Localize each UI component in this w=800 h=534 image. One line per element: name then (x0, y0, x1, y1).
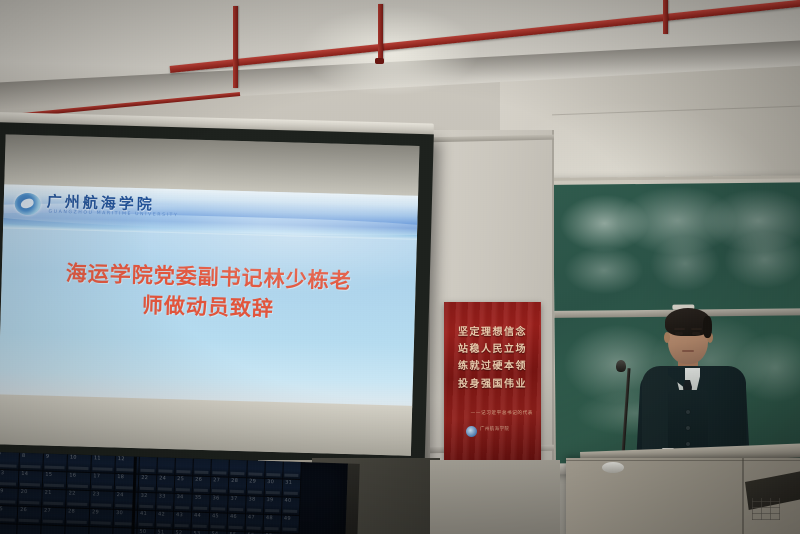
locker-cell[interactable]: 14 (19, 471, 44, 490)
locker-number: 30 (116, 511, 123, 516)
speaker-eye-left (675, 332, 683, 335)
locker-cell[interactable]: 25 (0, 506, 18, 525)
locker-number: 17 (93, 474, 100, 479)
locker-number: 25 (177, 477, 184, 482)
microphone-head-icon (616, 360, 626, 372)
locker-number: 7 (0, 453, 1, 458)
locker-number: 34 (177, 495, 184, 500)
locker-cell[interactable] (247, 460, 266, 479)
numbered-lockers[interactable]: 7891011121314151617182224252627282930311… (0, 452, 348, 534)
locker-number: 30 (267, 480, 274, 485)
locker-number: 11 (94, 456, 101, 461)
microphone-base (602, 462, 624, 473)
locker-number: 40 (284, 499, 291, 504)
locker-cell[interactable]: 29 (247, 478, 266, 497)
locker-number: 33 (159, 494, 166, 499)
locker-number: 24 (117, 493, 124, 498)
locker-number: 26 (20, 508, 27, 513)
locker-cell[interactable]: 11 (91, 455, 116, 474)
sprinkler-head-icon (375, 58, 384, 64)
locker-cell[interactable]: 20 (18, 489, 43, 508)
locker-cell[interactable]: 26 (193, 477, 212, 496)
locker-number: 22 (141, 476, 148, 481)
locker-number: 44 (194, 514, 201, 519)
speaker-ear-left (664, 332, 670, 343)
sprinkler-drop-pipe (663, 0, 668, 34)
locker-number: 29 (92, 510, 99, 515)
locker-number: 42 (158, 512, 165, 517)
locker-cell[interactable]: 50 (137, 529, 156, 534)
locker-number: 22 (69, 491, 76, 496)
locker-cell[interactable]: 49 (281, 516, 300, 534)
locker-number: 41 (140, 512, 147, 517)
locker-cell[interactable]: 16 (67, 472, 92, 491)
locker-cell[interactable] (139, 457, 158, 476)
sprinkler-drop-pipe (378, 4, 383, 62)
locker-number: 23 (93, 492, 100, 497)
locker-cell[interactable]: 28 (229, 478, 248, 497)
locker-cell[interactable]: 37 (228, 496, 247, 515)
locker-cell[interactable]: 33 (156, 493, 175, 512)
locker-cell[interactable] (283, 462, 302, 481)
presentation-slide[interactable]: 广州航海学院 GUANGZHOU MARITIME UNIVERSITY 海运学… (0, 184, 418, 407)
locker-cell[interactable]: 25 (175, 476, 194, 495)
locker-number: 25 (0, 507, 3, 512)
locker-number: 36 (212, 496, 219, 501)
locker-cell[interactable]: 24 (157, 475, 176, 494)
locker-cell[interactable]: 32 (138, 493, 157, 512)
locker-cell[interactable]: 31 (283, 480, 302, 499)
locker-cell[interactable]: 41 (138, 511, 157, 530)
locker-number: 27 (44, 509, 51, 514)
locker-number: 38 (248, 497, 255, 502)
speaker-hair (665, 308, 711, 336)
locker-cell[interactable]: 46 (227, 514, 246, 533)
banner-line-2: 站稳人民立场 (444, 341, 541, 358)
locker-number: 13 (0, 471, 4, 476)
locker-cell[interactable]: 35 (192, 495, 211, 514)
locker-cell[interactable]: 52 (173, 530, 192, 534)
banner-slogan-block: 坚定理想信念 站稳人民立场 练就过硬本领 投身强国伟业 (444, 324, 541, 393)
locker-number: 28 (231, 479, 238, 484)
locker-cell[interactable]: 42 (156, 511, 175, 530)
locker-number: 45 (212, 514, 219, 519)
locker-cell[interactable]: 48 (263, 515, 282, 534)
locker-number: 31 (285, 481, 292, 486)
locker-cell[interactable]: 23 (90, 491, 115, 510)
locker-cell[interactable]: 17 (91, 473, 116, 492)
locker-number: 16 (69, 473, 76, 478)
locker-number: 49 (284, 517, 291, 522)
locker-number: 50 (139, 530, 146, 534)
locker-cell[interactable]: 8 (19, 453, 44, 472)
locker-number: 24 (159, 476, 166, 481)
lecture-hall-photo: 坚定理想信念 站稳人民立场 练就过硬本领 投身强国伟业 ——记习近平总书记的代表… (0, 0, 800, 534)
locker-number: 8 (22, 454, 26, 459)
banner-line-1: 坚定理想信念 (444, 324, 541, 341)
locker-cell[interactable] (193, 459, 212, 478)
locker-cell[interactable]: 7 (0, 452, 20, 471)
locker-number: 29 (249, 479, 256, 484)
locker-cell[interactable] (65, 526, 90, 534)
banner-subtitle: ——记习近平总书记的代表 (444, 410, 541, 416)
locker-cell[interactable] (157, 457, 176, 476)
locker-cell[interactable] (229, 460, 248, 479)
locker-cell[interactable]: 53 (191, 531, 210, 534)
locker-cell[interactable]: 45 (209, 513, 228, 532)
banner-line-3: 练就过硬本领 (444, 358, 541, 375)
locker-number: 20 (21, 490, 28, 495)
speaker-eye-right (692, 332, 700, 335)
locker-cell[interactable] (89, 527, 114, 534)
locker-cell[interactable]: 10 (67, 454, 92, 473)
banner-logo-text: 广州航海学院 (480, 427, 509, 434)
screen-blank-area-bottom (0, 394, 412, 456)
locker-cell[interactable] (0, 524, 18, 534)
sprinkler-drop-pipe (233, 6, 238, 88)
locker-number: 14 (21, 472, 28, 477)
locker-cell[interactable]: 38 (246, 496, 265, 515)
projection-screen-surface[interactable]: 广州航海学院 GUANGZHOU MARITIME UNIVERSITY 海运学… (0, 134, 419, 455)
podium-vent-grille (752, 498, 780, 520)
floor-area (430, 460, 560, 534)
locker-number: 10 (70, 455, 77, 460)
projection-screen-frame[interactable]: 广州航海学院 GUANGZHOU MARITIME UNIVERSITY 海运学… (0, 122, 434, 474)
locker-cell[interactable]: 9 (43, 454, 68, 473)
locker-cell[interactable]: 19 (0, 488, 19, 507)
locker-cell[interactable]: 28 (66, 508, 91, 527)
locker-number: 43 (176, 513, 183, 518)
locker-number: 39 (266, 498, 273, 503)
locker-cell[interactable]: 13 (0, 470, 19, 489)
banner-line-4: 投身强国伟业 (444, 376, 541, 393)
locker-cell[interactable]: 27 (42, 508, 67, 527)
locker-number: 12 (118, 457, 125, 462)
locker-cell[interactable] (41, 526, 66, 534)
locker-cell[interactable]: 30 (265, 479, 284, 498)
locker-cell[interactable]: 21 (42, 490, 67, 509)
locker-number: 9 (46, 455, 50, 460)
locker-cell[interactable]: 51 (155, 529, 174, 534)
locker-cell[interactable]: 22 (66, 490, 91, 509)
slide-title: 海运学院党委副书记林少栋老 师做动员致辞 (1, 256, 417, 327)
locker-number: 46 (230, 515, 237, 520)
locker-cell[interactable]: 47 (245, 514, 264, 533)
locker-number: 32 (141, 494, 148, 499)
locker-cell[interactable]: 29 (90, 509, 115, 528)
locker-cell[interactable]: 40 (282, 498, 301, 517)
locker-cell[interactable]: 43 (174, 512, 193, 531)
locker-number: 47 (248, 515, 255, 520)
locker-cell[interactable]: 36 (210, 495, 229, 514)
red-wall-banner: 坚定理想信念 站稳人民立场 练就过硬本领 投身强国伟业 ——记习近平总书记的代表… (444, 302, 541, 462)
locker-cell[interactable]: 27 (211, 477, 230, 496)
locker-number: 48 (266, 516, 273, 521)
locker-cell[interactable]: 39 (264, 497, 283, 516)
locker-number: 26 (195, 478, 202, 483)
locker-cell[interactable] (211, 459, 230, 478)
locker-number: 15 (45, 473, 52, 478)
locker-number: 28 (68, 509, 75, 514)
locker-cell[interactable]: 26 (18, 507, 43, 526)
locker-cell[interactable]: 15 (43, 472, 68, 491)
locker-number: 21 (45, 491, 52, 496)
locker-number: 51 (157, 530, 164, 534)
locker-number: 27 (213, 478, 220, 483)
locker-number: 18 (117, 475, 124, 480)
banner-university-logo-icon (466, 426, 477, 437)
locker-number: 35 (194, 496, 201, 501)
locker-cell[interactable]: 44 (192, 513, 211, 532)
speaker-mouth (682, 350, 694, 352)
locker-cell[interactable] (17, 525, 42, 534)
locker-cell[interactable] (175, 458, 194, 477)
locker-cell[interactable]: 34 (174, 494, 193, 513)
locker-number: 37 (230, 497, 237, 502)
locker-cell[interactable]: 22 (139, 475, 158, 494)
locker-cell[interactable] (265, 461, 284, 480)
locker-number: 19 (0, 489, 4, 494)
